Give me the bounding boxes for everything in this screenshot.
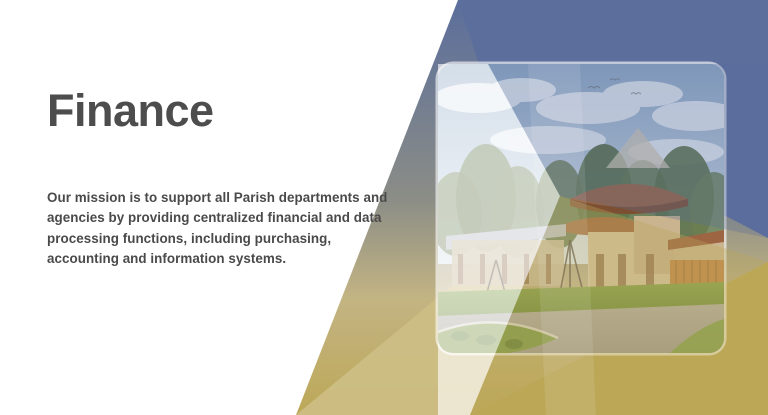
text-column: Finance Our mission is to support all Pa… — [47, 88, 417, 283]
building-rendering-image — [438, 64, 724, 353]
building-rendering-svg — [438, 64, 724, 353]
fence — [670, 260, 724, 286]
presentation-slide: Finance Our mission is to support all Pa… — [0, 0, 768, 415]
page-title: Finance — [47, 88, 417, 133]
mission-statement: Our mission is to support all Parish dep… — [47, 188, 399, 270]
